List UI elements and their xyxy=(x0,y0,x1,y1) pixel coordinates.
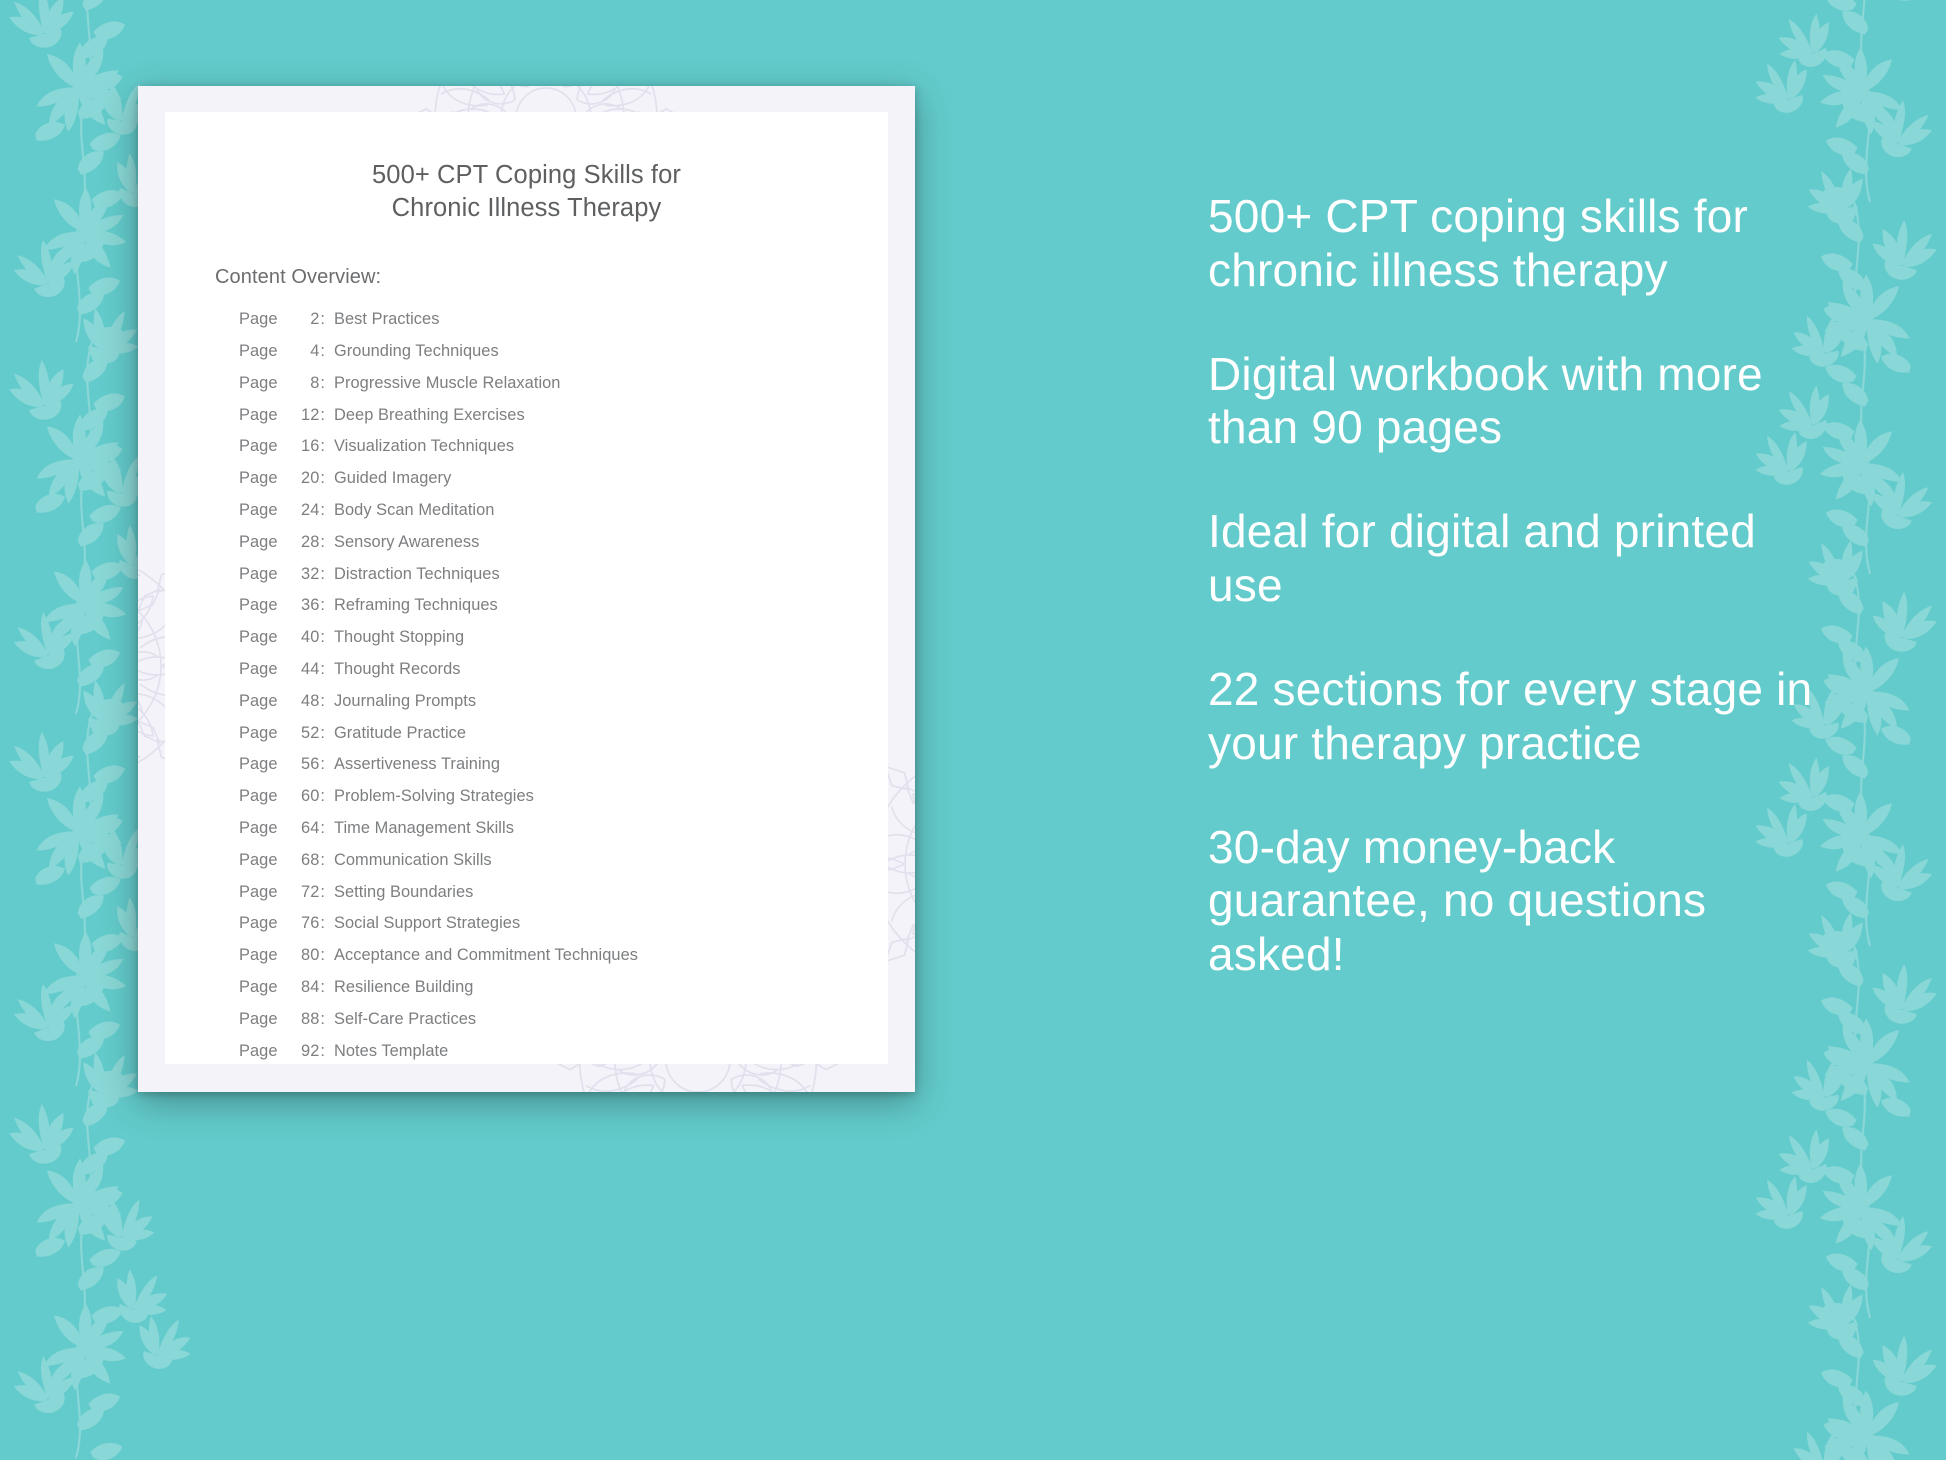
table-of-contents-row: Page24:Body Scan Meditation xyxy=(239,502,888,534)
toc-page-word: Page xyxy=(239,1011,277,1027)
document-preview-card[interactable]: 500+ CPT Coping Skills for Chronic Illne… xyxy=(138,86,915,1092)
toc-page-number: 56 xyxy=(277,756,319,772)
toc-page-number: 2 xyxy=(277,311,319,327)
toc-colon: : xyxy=(320,566,325,582)
toc-page-word: Page xyxy=(239,343,277,359)
toc-section-title: Grounding Techniques xyxy=(334,343,499,359)
document-page: 500+ CPT Coping Skills for Chronic Illne… xyxy=(165,112,888,1064)
toc-page-number: 92 xyxy=(277,1043,319,1059)
toc-section-title: Visualization Techniques xyxy=(334,438,514,454)
toc-colon: : xyxy=(320,979,325,995)
toc-section-title: Progressive Muscle Relaxation xyxy=(334,375,560,391)
table-of-contents-row: Page92:Notes Template xyxy=(239,1043,888,1075)
toc-page-word: Page xyxy=(239,725,277,741)
promo-text-1: 500+ CPT coping skills for chronic illne… xyxy=(1208,190,1828,298)
promo-text-4: 22 sections for every stage in your ther… xyxy=(1208,663,1828,771)
toc-colon: : xyxy=(320,693,325,709)
toc-page-number: 20 xyxy=(277,470,319,486)
toc-page-number: 72 xyxy=(277,884,319,900)
table-of-contents-row: Page8:Progressive Muscle Relaxation xyxy=(239,375,888,407)
toc-colon: : xyxy=(320,756,325,772)
toc-page-column: Page24: xyxy=(239,502,325,518)
toc-page-word: Page xyxy=(239,756,277,772)
toc-colon: : xyxy=(320,947,325,963)
table-of-contents-row: Page60:Problem-Solving Strategies xyxy=(239,788,888,820)
table-of-contents-row: Page56:Assertiveness Training xyxy=(239,756,888,788)
table-of-contents-row: Page12:Deep Breathing Exercises xyxy=(239,407,888,439)
toc-page-column: Page8: xyxy=(239,375,325,391)
toc-section-title: Resilience Building xyxy=(334,979,473,995)
toc-page-column: Page40: xyxy=(239,629,325,645)
toc-page-column: Page88: xyxy=(239,1011,325,1027)
toc-section-title: Thought Stopping xyxy=(334,629,464,645)
toc-colon: : xyxy=(320,502,325,518)
toc-colon: : xyxy=(320,852,325,868)
toc-page-word: Page xyxy=(239,566,277,582)
toc-page-number: 44 xyxy=(277,661,319,677)
toc-page-word: Page xyxy=(239,407,277,423)
toc-page-word: Page xyxy=(239,534,277,550)
promo-text-5: 30-day money-back guarantee, no question… xyxy=(1208,821,1828,982)
toc-page-number: 24 xyxy=(277,502,319,518)
toc-page-column: Page64: xyxy=(239,820,325,836)
toc-colon: : xyxy=(320,343,325,359)
toc-section-title: Journaling Prompts xyxy=(334,693,476,709)
toc-page-column: Page60: xyxy=(239,788,325,804)
toc-page-number: 28 xyxy=(277,534,319,550)
toc-page-word: Page xyxy=(239,884,277,900)
product-listing-image: 500+ CPT Coping Skills for Chronic Illne… xyxy=(0,0,1946,1460)
toc-page-word: Page xyxy=(239,820,277,836)
toc-page-number: 60 xyxy=(277,788,319,804)
toc-page-column: Page20: xyxy=(239,470,325,486)
toc-page-number: 16 xyxy=(277,438,319,454)
table-of-contents-row: Page84:Resilience Building xyxy=(239,979,888,1011)
toc-page-word: Page xyxy=(239,438,277,454)
toc-page-number: 64 xyxy=(277,820,319,836)
toc-page-number: 80 xyxy=(277,947,319,963)
toc-section-title: Acceptance and Commitment Techniques xyxy=(334,947,638,963)
toc-section-title: Notes Template xyxy=(334,1043,448,1059)
toc-colon: : xyxy=(320,1043,325,1059)
toc-page-word: Page xyxy=(239,375,277,391)
page-title: 500+ CPT Coping Skills for Chronic Illne… xyxy=(165,159,888,225)
toc-section-title: Self-Care Practices xyxy=(334,1011,476,1027)
toc-page-number: 12 xyxy=(277,407,319,423)
toc-page-column: Page72: xyxy=(239,884,325,900)
toc-colon: : xyxy=(320,629,325,645)
toc-page-column: Page84: xyxy=(239,979,325,995)
toc-section-title: Social Support Strategies xyxy=(334,915,520,931)
toc-page-column: Page76: xyxy=(239,915,325,931)
table-of-contents-row: Page44:Thought Records xyxy=(239,661,888,693)
toc-section-title: Setting Boundaries xyxy=(334,884,473,900)
table-of-contents-row: Page64:Time Management Skills xyxy=(239,820,888,852)
toc-page-number: 88 xyxy=(277,1011,319,1027)
toc-page-word: Page xyxy=(239,852,277,868)
toc-page-column: Page80: xyxy=(239,947,325,963)
toc-page-word: Page xyxy=(239,661,277,677)
toc-colon: : xyxy=(320,788,325,804)
toc-page-column: Page44: xyxy=(239,661,325,677)
toc-page-column: Page92: xyxy=(239,1043,325,1059)
toc-page-column: Page56: xyxy=(239,756,325,772)
toc-section-title: Body Scan Meditation xyxy=(334,502,494,518)
toc-page-column: Page52: xyxy=(239,725,325,741)
toc-page-number: 40 xyxy=(277,629,319,645)
table-of-contents-row: Page76:Social Support Strategies xyxy=(239,915,888,947)
toc-section-title: Time Management Skills xyxy=(334,820,514,836)
table-of-contents-row: Page52:Gratitude Practice xyxy=(239,725,888,757)
toc-colon: : xyxy=(320,725,325,741)
toc-page-word: Page xyxy=(239,947,277,963)
promo-text-2: Digital workbook with more than 90 pages xyxy=(1208,348,1828,456)
toc-section-title: Problem-Solving Strategies xyxy=(334,788,534,804)
table-of-contents-row: Page40:Thought Stopping xyxy=(239,629,888,661)
toc-page-number: 68 xyxy=(277,852,319,868)
toc-page-column: Page68: xyxy=(239,852,325,868)
toc-page-number: 76 xyxy=(277,915,319,931)
toc-page-word: Page xyxy=(239,915,277,931)
table-of-contents-row: Page28:Sensory Awareness xyxy=(239,534,888,566)
toc-page-column: Page12: xyxy=(239,407,325,423)
toc-section-title: Communication Skills xyxy=(334,852,492,868)
toc-colon: : xyxy=(320,1011,325,1027)
table-of-contents-row: Page4:Grounding Techniques xyxy=(239,343,888,375)
toc-page-word: Page xyxy=(239,502,277,518)
toc-section-title: Best Practices xyxy=(334,311,439,327)
toc-page-word: Page xyxy=(239,629,277,645)
table-of-contents-row: Page68:Communication Skills xyxy=(239,852,888,884)
table-of-contents-row: Page20:Guided Imagery xyxy=(239,470,888,502)
toc-page-number: 48 xyxy=(277,693,319,709)
toc-page-number: 84 xyxy=(277,979,319,995)
toc-page-column: Page32: xyxy=(239,566,325,582)
toc-page-word: Page xyxy=(239,1043,277,1059)
toc-page-word: Page xyxy=(239,788,277,804)
toc-colon: : xyxy=(320,884,325,900)
toc-page-word: Page xyxy=(239,470,277,486)
toc-page-word: Page xyxy=(239,693,277,709)
promo-text-3: Ideal for digital and printed use xyxy=(1208,505,1828,613)
marketing-copy-panel: 500+ CPT coping skills for chronic illne… xyxy=(1208,190,1828,982)
toc-page-word: Page xyxy=(239,597,277,613)
table-of-contents-list: Page2:Best PracticesPage4:Grounding Tech… xyxy=(239,311,888,1074)
toc-page-number: 4 xyxy=(277,343,319,359)
toc-section-title: Distraction Techniques xyxy=(334,566,500,582)
table-of-contents-row: Page72:Setting Boundaries xyxy=(239,884,888,916)
toc-colon: : xyxy=(320,311,325,327)
toc-colon: : xyxy=(320,375,325,391)
toc-colon: : xyxy=(320,597,325,613)
toc-page-word: Page xyxy=(239,311,277,327)
toc-section-title: Sensory Awareness xyxy=(334,534,479,550)
table-of-contents-row: Page48:Journaling Prompts xyxy=(239,693,888,725)
toc-page-number: 36 xyxy=(277,597,319,613)
toc-section-title: Gratitude Practice xyxy=(334,725,466,741)
toc-page-column: Page28: xyxy=(239,534,325,550)
toc-colon: : xyxy=(320,820,325,836)
toc-section-title: Reframing Techniques xyxy=(334,597,498,613)
table-of-contents-row: Page16:Visualization Techniques xyxy=(239,438,888,470)
toc-colon: : xyxy=(320,915,325,931)
toc-page-number: 32 xyxy=(277,566,319,582)
toc-page-column: Page2: xyxy=(239,311,325,327)
toc-colon: : xyxy=(320,470,325,486)
table-of-contents-row: Page80:Acceptance and Commitment Techniq… xyxy=(239,947,888,979)
toc-page-column: Page36: xyxy=(239,597,325,613)
toc-colon: : xyxy=(320,438,325,454)
toc-section-title: Deep Breathing Exercises xyxy=(334,407,525,423)
toc-colon: : xyxy=(320,407,325,423)
toc-page-column: Page16: xyxy=(239,438,325,454)
toc-page-number: 8 xyxy=(277,375,319,391)
content-overview-label: Content Overview: xyxy=(215,266,888,289)
toc-section-title: Thought Records xyxy=(334,661,460,677)
table-of-contents-row: Page2:Best Practices xyxy=(239,311,888,343)
toc-colon: : xyxy=(320,661,325,677)
toc-page-column: Page4: xyxy=(239,343,325,359)
toc-section-title: Assertiveness Training xyxy=(334,756,500,772)
table-of-contents-row: Page88:Self-Care Practices xyxy=(239,1011,888,1043)
table-of-contents-row: Page36:Reframing Techniques xyxy=(239,597,888,629)
toc-section-title: Guided Imagery xyxy=(334,470,451,486)
toc-page-word: Page xyxy=(239,979,277,995)
toc-page-number: 52 xyxy=(277,725,319,741)
toc-page-column: Page48: xyxy=(239,693,325,709)
table-of-contents-row: Page32:Distraction Techniques xyxy=(239,566,888,598)
toc-colon: : xyxy=(320,534,325,550)
